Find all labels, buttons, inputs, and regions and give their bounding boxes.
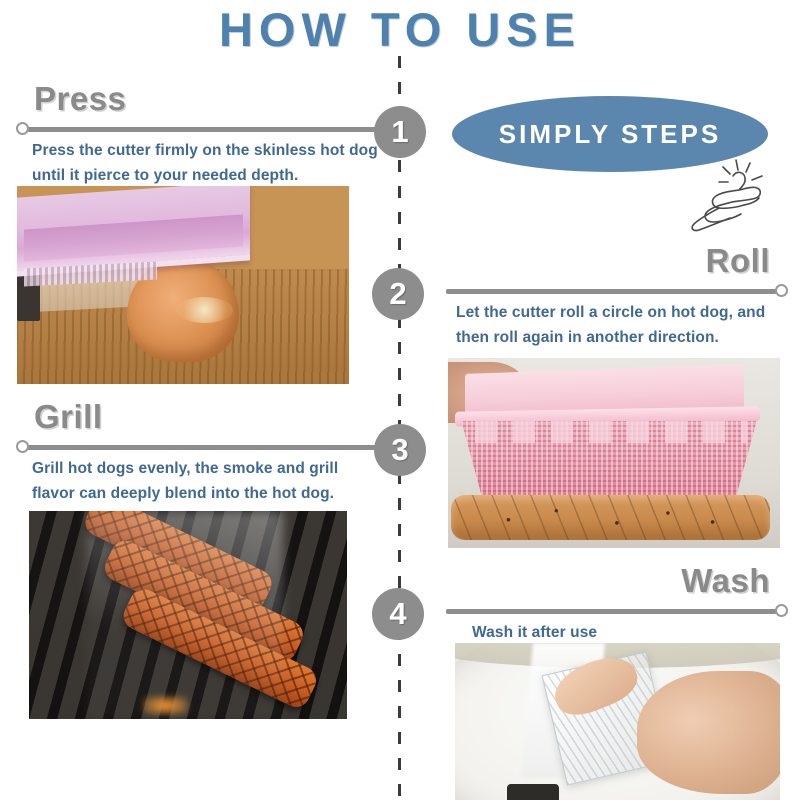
- step-1-rule-endcap: [16, 122, 29, 135]
- step-3-rule: [16, 442, 400, 452]
- step-3-body-text: Grill hot dogs evenly, the smoke and gri…: [32, 456, 384, 506]
- step-3-rule-endcap: [16, 440, 29, 453]
- step-3-number-badge: 3: [374, 424, 426, 476]
- step-4-rule: [398, 606, 788, 616]
- step-1-body-text: Press the cutter firmly on the skinless …: [32, 138, 384, 188]
- simply-steps-label: SIMPLY STEPS: [499, 119, 721, 150]
- step-2-photo-content: [448, 358, 780, 548]
- step-1-photo: [17, 186, 349, 384]
- step-1-rule: [16, 124, 400, 134]
- step-3-rule-line: [24, 445, 392, 450]
- infographic-page: HOW TO USE Press 1 Press the cutter firm…: [0, 0, 800, 800]
- step-2-rule-endcap: [775, 284, 788, 297]
- step-3-heading: Grill: [34, 398, 103, 436]
- page-title: HOW TO USE: [0, 2, 800, 57]
- step-2-number-badge: 2: [372, 268, 424, 320]
- step-3-photo-content: [29, 511, 347, 719]
- step-3-photo: [29, 511, 347, 719]
- step-2-rule-line: [446, 289, 780, 294]
- step-1-photo-content: [17, 186, 349, 384]
- snapping-fingers-icon: [686, 158, 772, 243]
- step-4-photo-content: [455, 643, 780, 800]
- step-4-body-text: Wash it after use: [472, 620, 792, 645]
- step-2-heading: Roll: [706, 242, 770, 280]
- step-2-rule: [398, 286, 788, 296]
- step-4-rule-line: [446, 609, 780, 614]
- step-4-photo: [455, 643, 780, 800]
- step-4-number-badge: 4: [372, 588, 424, 640]
- step-1-rule-line: [24, 127, 392, 132]
- step-1-heading: Press: [34, 80, 126, 118]
- step-4-heading: Wash: [681, 562, 770, 600]
- step-2-body-text: Let the cutter roll a circle on hot dog,…: [456, 300, 790, 350]
- step-1-number-badge: 1: [374, 106, 426, 158]
- step-2-photo: [448, 358, 780, 548]
- step-4-rule-endcap: [775, 604, 788, 617]
